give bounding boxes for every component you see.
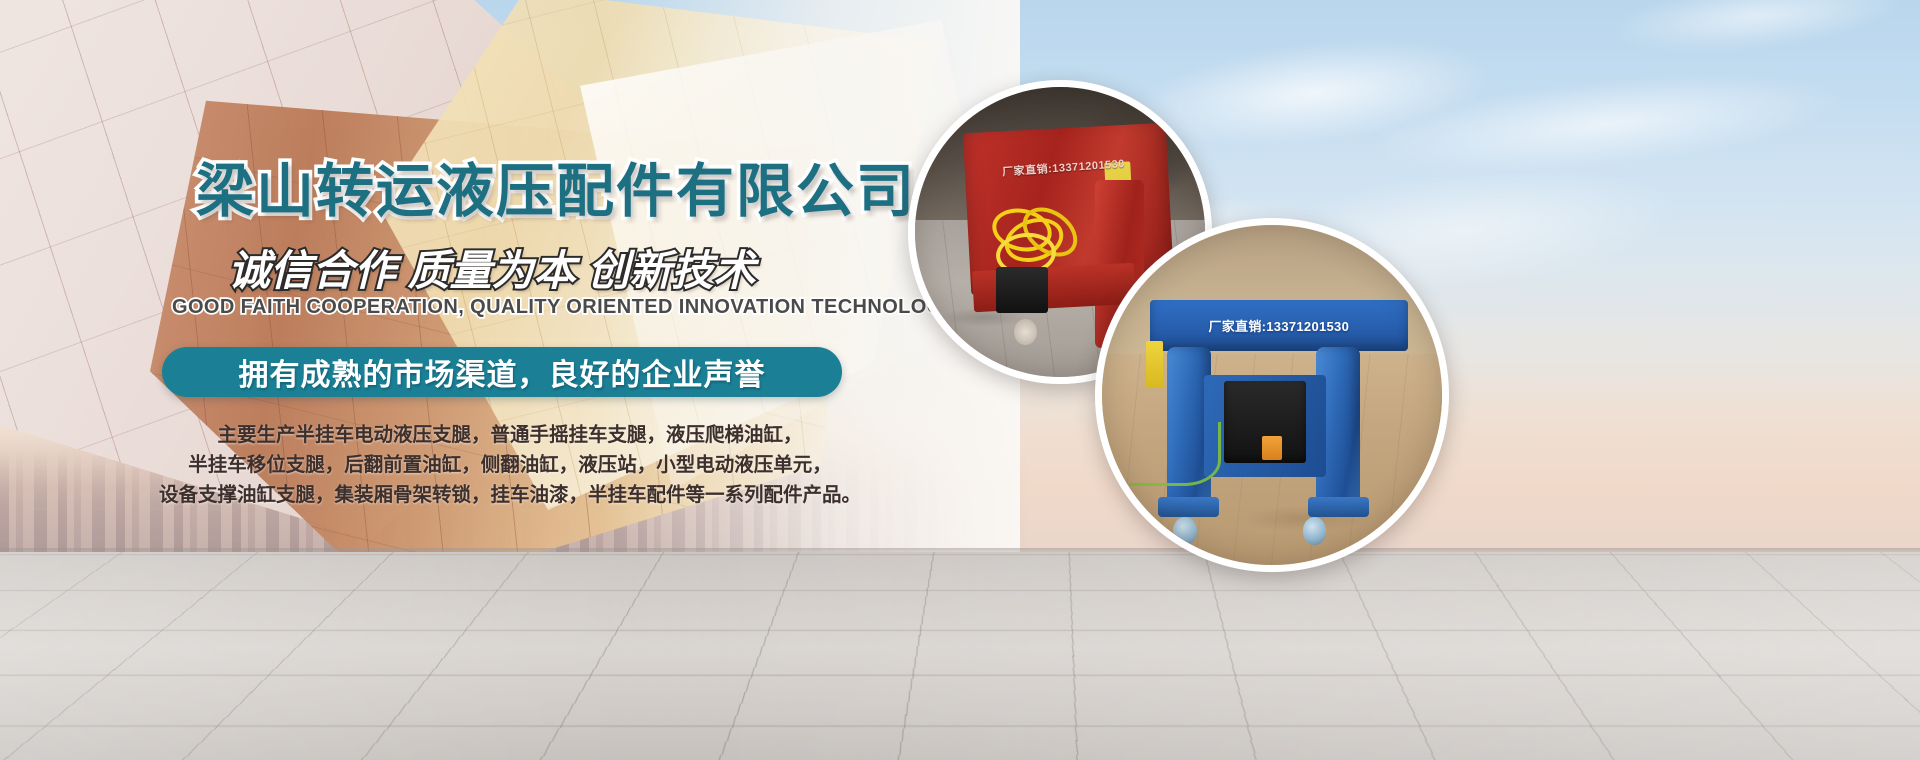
blue-machine-scene: 厂家直销:13371201530 bbox=[1102, 225, 1442, 565]
slogan-english: GOOD FAITH COOPERATION, QUALITY ORIENTED… bbox=[172, 297, 956, 317]
green-hose bbox=[1129, 422, 1220, 486]
yellow-sticker bbox=[1146, 341, 1163, 389]
machine-caster-wheel bbox=[1014, 319, 1037, 345]
product-description: 主要生产半挂车电动液压支腿，普通手摇挂车支腿，液压爬梯油缸， 半挂车移位支腿，后… bbox=[130, 420, 890, 510]
description-line-2: 半挂车移位支腿，后翻前置油缸，侧翻油缸，液压站，小型电动液压单元， bbox=[130, 450, 890, 480]
blue-machine-caption: 厂家直销:13371201530 bbox=[1208, 316, 1349, 335]
blue-caster-wheel-left bbox=[1173, 517, 1197, 544]
highlight-bar: 拥有成熟的市场渠道，良好的企业声誉 bbox=[162, 347, 842, 397]
product-photo-blue-machine: 厂家直销:13371201530 bbox=[1095, 218, 1449, 572]
description-line-1: 主要生产半挂车电动液压支腿，普通手摇挂车支腿，液压爬梯油缸， bbox=[130, 420, 890, 450]
orange-indicator bbox=[1262, 436, 1282, 460]
electric-motor bbox=[996, 267, 1048, 313]
promotional-banner: 梁山转运液压配件有限公司 诚信合作 质量为本 创新技术 GOOD FAITH C… bbox=[0, 0, 1920, 760]
support-foot-right bbox=[1308, 497, 1369, 517]
slogan-chinese: 诚信合作 质量为本 创新技术 bbox=[228, 250, 755, 292]
blue-machine-top-rail: 厂家直销:13371201530 bbox=[1150, 300, 1408, 351]
company-title: 梁山转运液压配件有限公司 bbox=[196, 163, 916, 221]
blue-caster-wheel-right bbox=[1303, 517, 1327, 544]
banner-text-block: 梁山转运液压配件有限公司 诚信合作 质量为本 创新技术 GOOD FAITH C… bbox=[0, 0, 1020, 640]
highlight-bar-text: 拥有成熟的市场渠道，良好的企业声誉 bbox=[239, 350, 766, 394]
description-line-3: 设备支撑油缸支腿，集装厢骨架转锁，挂车油漆，半挂车配件等一系列配件产品。 bbox=[130, 480, 890, 510]
support-foot-left bbox=[1158, 497, 1219, 517]
